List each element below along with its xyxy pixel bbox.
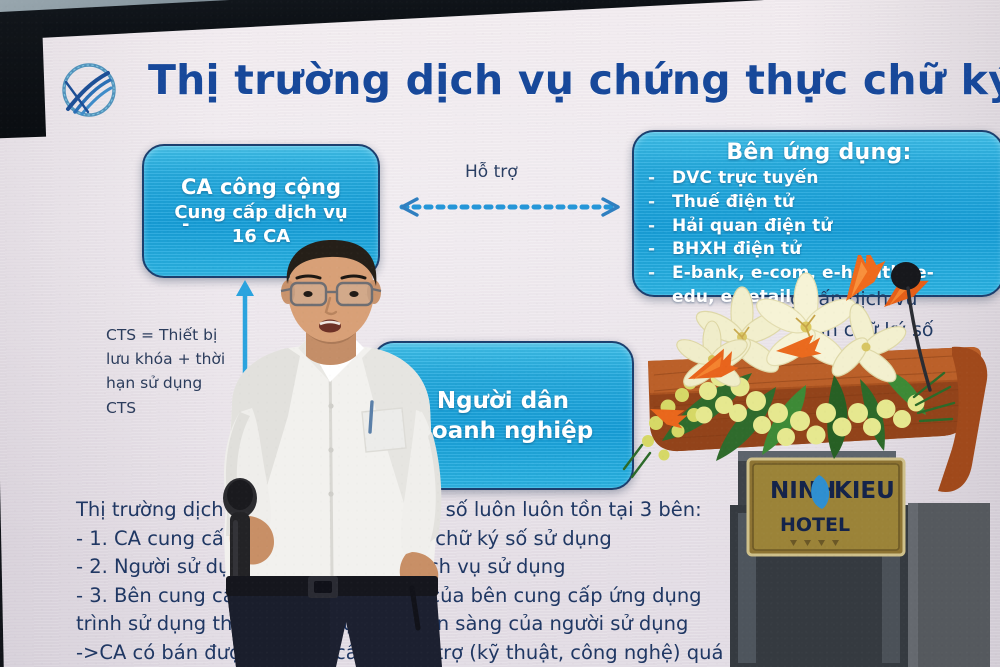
podium-with-flowers: NINH KIEU HOTEL	[620, 255, 1000, 667]
app-bullet-dash: -	[648, 167, 654, 191]
app-item-label: Thuế điện tử	[672, 191, 990, 215]
ca-box-heading: CA công cộng	[181, 175, 341, 199]
list-item: - Thuế điện tử	[648, 191, 990, 215]
slide-title: Thị trường dịch vụ chứng thực chữ ký số	[148, 56, 1000, 104]
podium-sign-kieu: KIEU	[834, 478, 895, 504]
organization-logo	[58, 60, 120, 122]
ca-box-dash: -	[182, 214, 189, 235]
speaker-person	[180, 236, 480, 667]
app-bullet-dash: -	[648, 191, 654, 215]
support-label: Hỗ trợ	[465, 162, 518, 182]
app-bullet-dash: -	[648, 215, 654, 239]
app-item-label: Hải quan điện tử	[672, 215, 990, 239]
list-item: - DVC trực tuyến	[648, 167, 990, 191]
podium-microphone	[880, 262, 940, 392]
podium-sign-hotel: HOTEL	[780, 514, 850, 536]
app-item-label: DVC trực tuyến	[672, 167, 990, 191]
ca-box-line2: Cung cấp dịch vụ	[174, 202, 347, 223]
left-wall-shadow	[0, 17, 46, 140]
app-box-heading: Bên ứng dụng:	[648, 140, 990, 165]
screenshot-stage: Thị trường dịch vụ chứng thực chữ ký số …	[0, 0, 1000, 667]
list-item: - Hải quan điện tử	[648, 215, 990, 239]
support-dotted-arrow-icon	[384, 196, 636, 218]
